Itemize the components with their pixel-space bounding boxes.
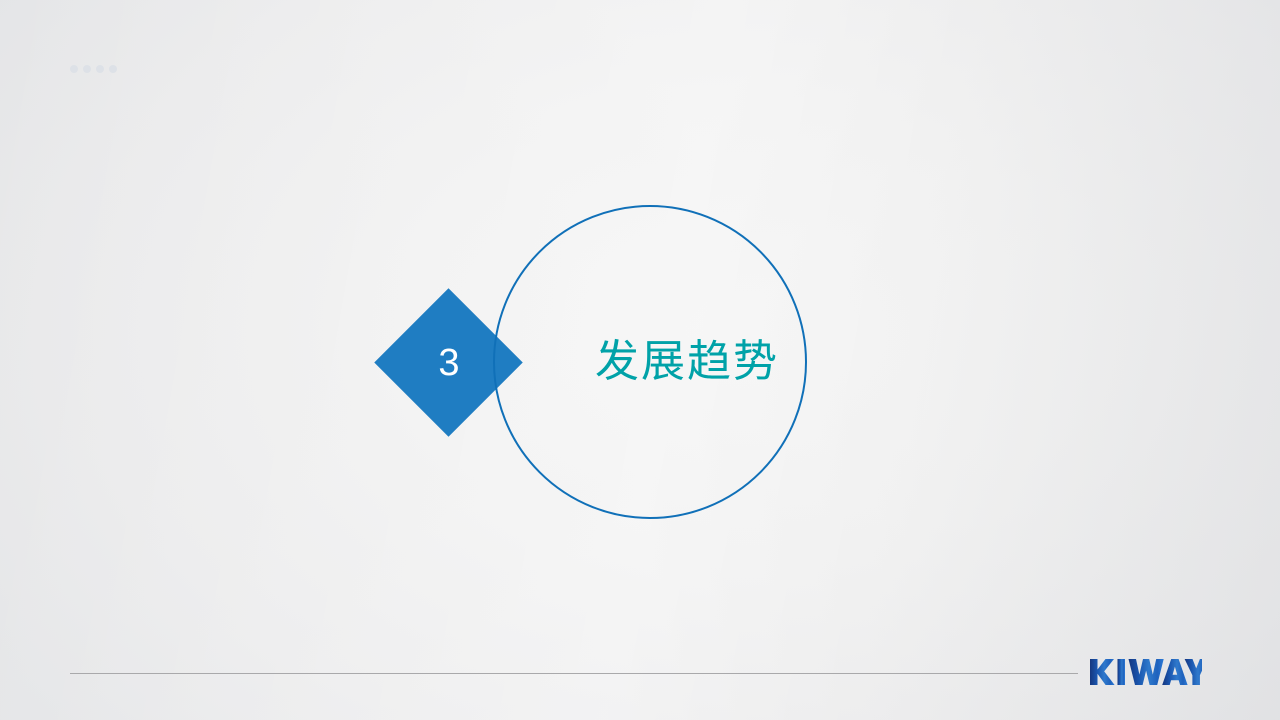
decorative-dots xyxy=(70,65,117,73)
slide-canvas: 3 发展趋势 xyxy=(0,0,1280,720)
dot-2-icon xyxy=(83,65,91,73)
footer-divider xyxy=(70,673,1078,674)
section-title: 发展趋势 xyxy=(493,205,807,519)
dot-4-icon xyxy=(109,65,117,73)
dot-3-icon xyxy=(96,65,104,73)
dot-1-icon xyxy=(70,65,78,73)
kiway-logo xyxy=(1090,659,1202,685)
